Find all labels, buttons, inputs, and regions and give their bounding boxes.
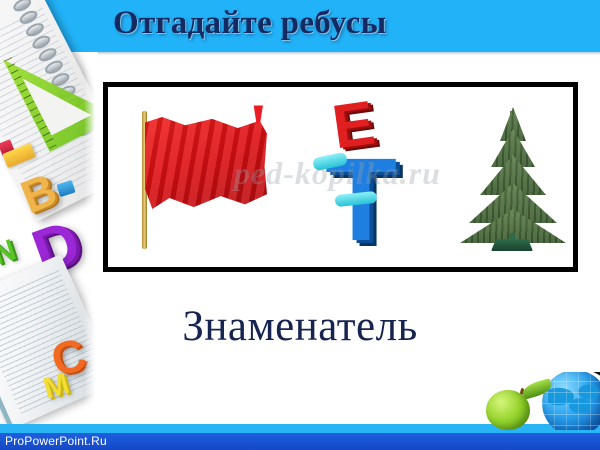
letters-group: Т Е bbox=[313, 93, 448, 268]
tree-stand bbox=[491, 239, 533, 251]
fir-tree-icon bbox=[453, 93, 573, 265]
answer-text: Знаменатель bbox=[0, 302, 600, 351]
letter-e-icon: Е bbox=[329, 92, 379, 159]
apostrophe-icon: ' bbox=[248, 93, 269, 167]
left-decoration: B D N C M bbox=[0, 0, 98, 450]
slide: Отгадайте ребусы B bbox=[0, 0, 600, 450]
page-title: Отгадайте ребусы bbox=[113, 5, 387, 42]
decoration-fade bbox=[84, 52, 98, 424]
rebus-image: ' Т Е ped-kopilka.ru bbox=[108, 87, 573, 267]
corner-decoration bbox=[480, 372, 600, 430]
rebus-image-frame: ' Т Е ped-kopilka.ru bbox=[103, 82, 578, 272]
brand-watermark: ProPowerPoint.Ru bbox=[5, 433, 107, 450]
green-apple-icon bbox=[486, 390, 530, 430]
globe-icon bbox=[542, 372, 600, 430]
globe-grid bbox=[542, 372, 600, 430]
